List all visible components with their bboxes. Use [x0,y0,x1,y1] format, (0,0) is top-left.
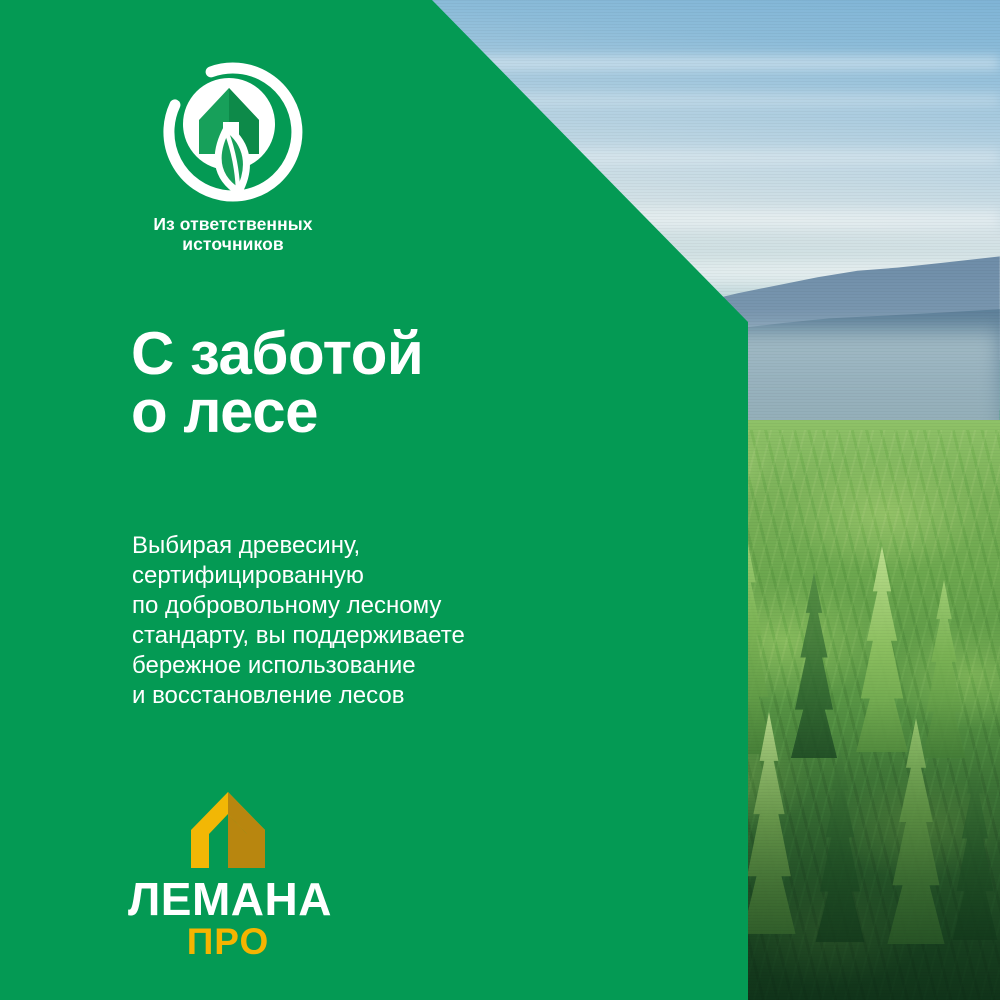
headline: С заботой о лесе [131,325,423,441]
brand-name: ЛЕМАНА [128,876,328,922]
body-copy: Выбирая древесину, сертифицированную по … [132,531,465,711]
responsible-sources-badge: Из ответственных источников [123,62,343,254]
house-leaf-circle-icon [163,62,303,202]
eco-promo-banner: Из ответственных источников С заботой о … [0,0,1000,1000]
brand-lockup: ЛЕМАНА ПРО [128,790,328,960]
badge-caption: Из ответственных источников [123,214,343,254]
brand-sub: ПРО [128,923,328,960]
badge-caption-line-2: источников [123,234,343,254]
lemana-house-icon [187,790,269,870]
content-layer: Из ответственных источников С заботой о … [0,0,1000,1000]
badge-caption-line-1: Из ответственных [123,214,343,234]
